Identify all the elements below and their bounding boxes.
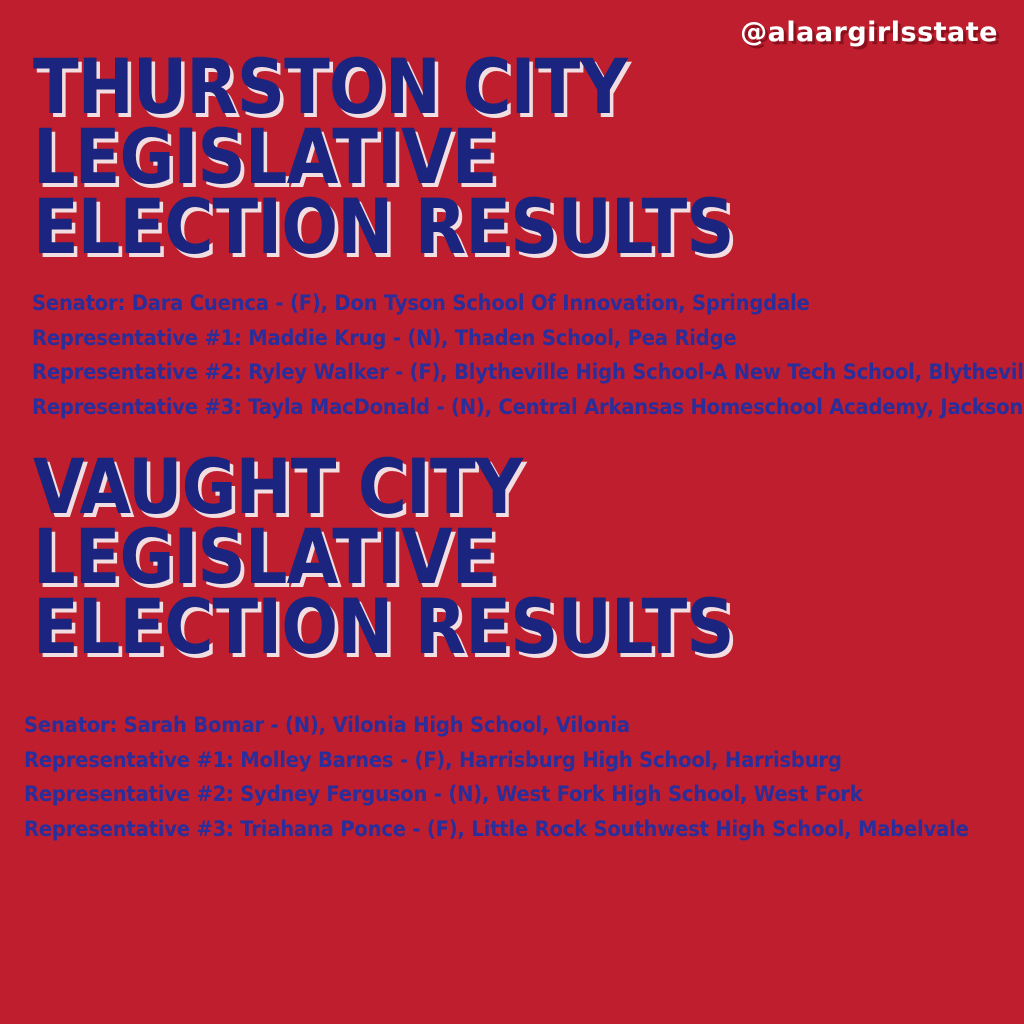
vaught-city-heading: VAUGHT CITY LEGISLATIVE ELECTION RESULTS [33,452,829,662]
result-row-representative-1: Representative #1: Molley Barnes - (F), … [24,743,969,778]
heading-line-3: ELECTION RESULTS [33,592,734,662]
result-row-senator: Senator: Sarah Bomar - (N), Vilonia High… [24,708,969,743]
result-row-senator: Senator: Dara Cuenca - (F), Don Tyson Sc… [32,286,1024,321]
instagram-handle-watermark: @alaargirlsstate [740,17,998,48]
result-row-representative-1: Representative #1: Maddie Krug - (N), Th… [32,321,1024,356]
thurston-city-results-list: Senator: Dara Cuenca - (F), Don Tyson Sc… [32,286,1024,424]
result-row-representative-2: Representative #2: Sydney Ferguson - (N)… [24,777,969,812]
heading-line-3: ELECTION RESULTS [33,192,734,262]
result-row-representative-3: Representative #3: Tayla MacDonald - (N)… [32,390,1024,425]
result-row-representative-2: Representative #2: Ryley Walker - (F), B… [32,355,1024,390]
result-row-representative-3: Representative #3: Triahana Ponce - (F),… [24,812,969,847]
thurston-city-heading: THURSTON CITY LEGISLATIVE ELECTION RESUL… [33,52,829,262]
vaught-city-results-list: Senator: Sarah Bomar - (N), Vilonia High… [24,708,1024,846]
poster-canvas: @alaargirlsstate THURSTON CITY LEGISLATI… [0,0,1024,1024]
